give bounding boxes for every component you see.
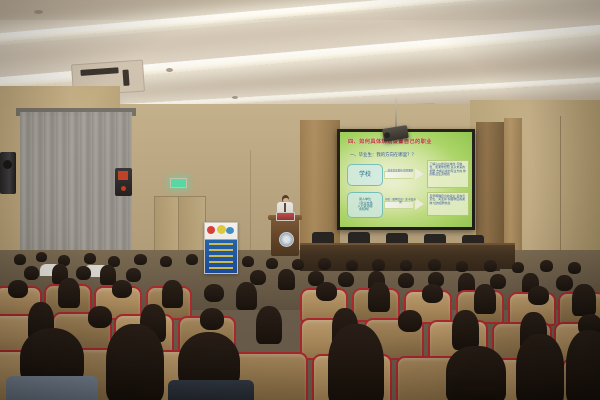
audience-member [556, 275, 573, 291]
audience-member [14, 254, 26, 265]
audience-member [160, 256, 172, 267]
projection-screen: 四、如何具体规划设置自己的职业 一、毕业生：我的方向在哪里？？ 学校 就业信息发… [337, 129, 475, 230]
wood-panel-right-2 [504, 118, 522, 254]
slide-subtitle: 一、毕业生：我的方向在哪里？？ [350, 152, 416, 158]
audience-member [204, 284, 224, 302]
audience-member [266, 258, 278, 269]
audience-member-foreground [516, 334, 564, 400]
audience-member [456, 261, 468, 272]
audience-member [512, 262, 524, 273]
audience-member [338, 272, 354, 287]
audience-member [36, 252, 47, 262]
audience-member [126, 268, 141, 282]
slide-left-box-2: 用人单位 （就业市场 人力资源服 务机构） [347, 192, 383, 218]
audience-member [84, 253, 96, 264]
slide-right-box-1: 了解心仪的就业单位 与岗位，如果你想知 道从未来的视野 去看高考的专业方向 你的… [427, 160, 469, 188]
audience-member [318, 258, 331, 270]
laptop-on-podium-icon [276, 212, 295, 221]
audience-member [88, 306, 112, 328]
audience-member [278, 269, 295, 290]
audience-member [134, 254, 147, 265]
audience-member [398, 310, 422, 332]
loudspeaker-icon [0, 152, 16, 194]
audience-member [528, 286, 549, 305]
audience-member [76, 266, 91, 280]
audience-member [256, 306, 282, 344]
audience-area [0, 250, 600, 400]
audience-member [572, 284, 596, 316]
audience-member-foreground-shirt [6, 376, 98, 400]
audience-member [292, 259, 304, 270]
audience-member [236, 282, 257, 310]
audience-member [162, 280, 183, 308]
audience-member [8, 280, 28, 298]
audience-member [186, 254, 198, 265]
audience-member [428, 259, 441, 271]
ceiling-fixture-3-icon [232, 96, 238, 99]
ceiling-fixture-1-icon [34, 10, 43, 14]
audience-member [452, 310, 479, 350]
audience-member [112, 280, 132, 298]
audience-member [540, 260, 553, 272]
audience-member [200, 308, 224, 330]
exit-sign-icon [170, 178, 187, 188]
wall-seam-right [560, 116, 561, 266]
projected-slide: 四、如何具体规划设置自己的职业 一、毕业生：我的方向在哪里？？ 学校 就业信息发… [340, 132, 472, 227]
slide-arrow-1-label: 就业信息发布 指导服务 [384, 169, 417, 172]
audience-member [346, 260, 358, 271]
audience-member [316, 282, 337, 301]
audience-member [398, 273, 414, 288]
audience-member-foreground-shirt [168, 380, 254, 400]
audience-member [250, 270, 266, 285]
audience-member [58, 278, 80, 308]
slide-arrow-2-label: 岗位（招聘信息）发 布及录用 [384, 198, 417, 204]
slide-left-box-1: 学校 [347, 164, 383, 186]
audience-member [400, 260, 412, 271]
projector-mount-pole [395, 98, 397, 130]
slide-right-box-2: 及早明确自身的就业 意向与定位，关注并 积极响应各类岗 位的招聘信息 [427, 192, 469, 216]
audience-member [372, 259, 385, 271]
audience-member [474, 284, 496, 314]
lecture-hall-photo: 四、如何具体规划设置自己的职业 一、毕业生：我的方向在哪里？？ 学校 就业信息发… [0, 0, 600, 400]
wall-control-box-icon[interactable] [115, 168, 132, 196]
audience-member [368, 282, 390, 312]
audience-member-foreground [328, 324, 384, 400]
audience-member-foreground [446, 346, 506, 400]
audience-member [484, 260, 497, 272]
audience-member-foreground [106, 324, 164, 400]
ceiling-fixture-2-icon [166, 68, 173, 72]
wall-seam-left [250, 150, 251, 260]
audience-member [24, 266, 39, 280]
audience-member-foreground [566, 330, 600, 400]
audience-member [422, 284, 443, 303]
audience-member [242, 256, 254, 267]
audience-member [568, 262, 581, 274]
podium-emblem-icon [279, 232, 294, 247]
